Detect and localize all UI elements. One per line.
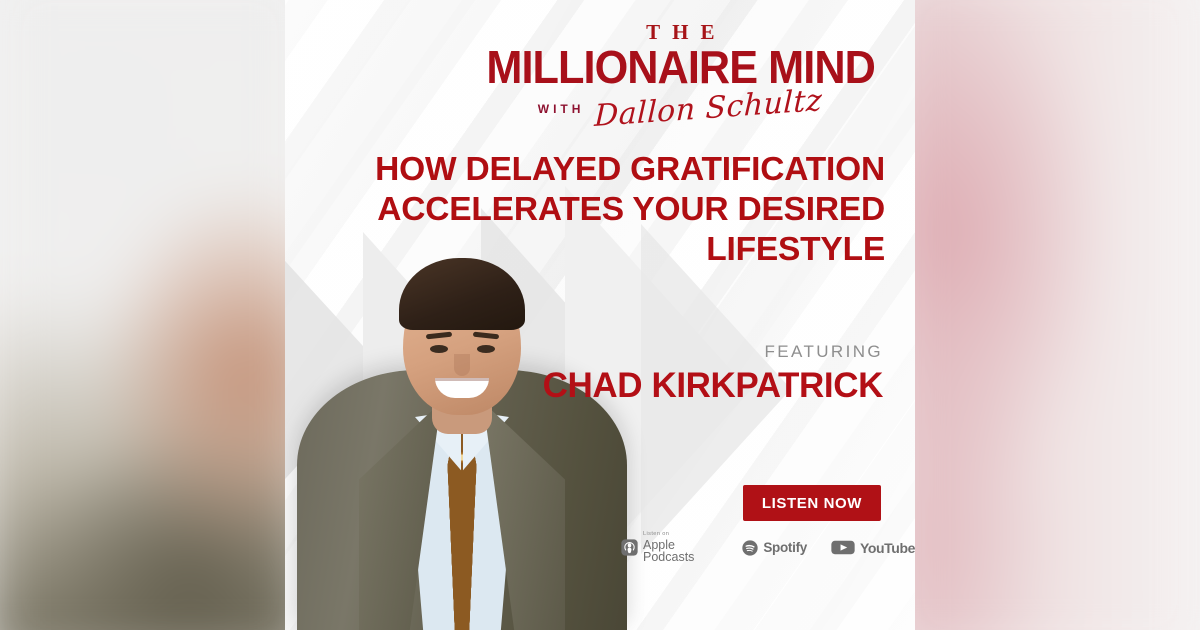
apple-podcasts-badge[interactable]: Listen on Apple Podcasts <box>621 532 718 564</box>
logo-the-text: THE <box>486 22 887 43</box>
platform-badges: Listen on Apple Podcasts Spotify YouTube <box>621 532 915 564</box>
guest-name: CHAD KIRKPATRICK <box>543 366 883 406</box>
spotify-badge[interactable]: Spotify <box>742 540 807 556</box>
backdrop-right-blur <box>882 0 1200 630</box>
episode-title: HOW DELAYED GRATIFICATION ACCELERATES YO… <box>365 150 885 271</box>
featuring-label: FEATURING <box>543 342 883 362</box>
apple-podcasts-label: Listen on Apple Podcasts <box>643 532 718 564</box>
episode-title-line-2: ACCELERATES YOUR DESIRED <box>365 190 885 230</box>
guest-photo <box>297 245 627 630</box>
logo-with-text: WITH <box>538 103 585 115</box>
episode-title-line-1: HOW DELAYED GRATIFICATION <box>365 150 885 190</box>
youtube-badge[interactable]: YouTube <box>831 539 915 556</box>
youtube-icon <box>831 539 855 556</box>
backdrop-left-blur <box>0 0 318 630</box>
spotify-label: Spotify <box>763 540 807 555</box>
apple-podcasts-small-text: Listen on <box>643 532 718 538</box>
featuring-block: FEATURING CHAD KIRKPATRICK <box>543 342 883 406</box>
show-logo: THE MILLIONAIRE MIND WITH Dallon Schultz <box>474 22 887 124</box>
nose <box>454 354 470 376</box>
listen-now-button[interactable]: LISTEN NOW <box>743 485 881 521</box>
eye-left <box>430 345 448 353</box>
podcast-cover-card: THE MILLIONAIRE MIND WITH Dallon Schultz… <box>285 0 915 630</box>
eye-right <box>477 345 495 353</box>
youtube-label: YouTube <box>860 540 915 556</box>
episode-title-line-3: LIFESTYLE <box>365 230 885 270</box>
logo-host-line: WITH Dallon Schultz <box>474 94 887 124</box>
apple-podcasts-name: Apple Podcasts <box>643 539 718 564</box>
spotify-icon <box>742 540 758 556</box>
apple-podcasts-icon <box>621 539 638 556</box>
